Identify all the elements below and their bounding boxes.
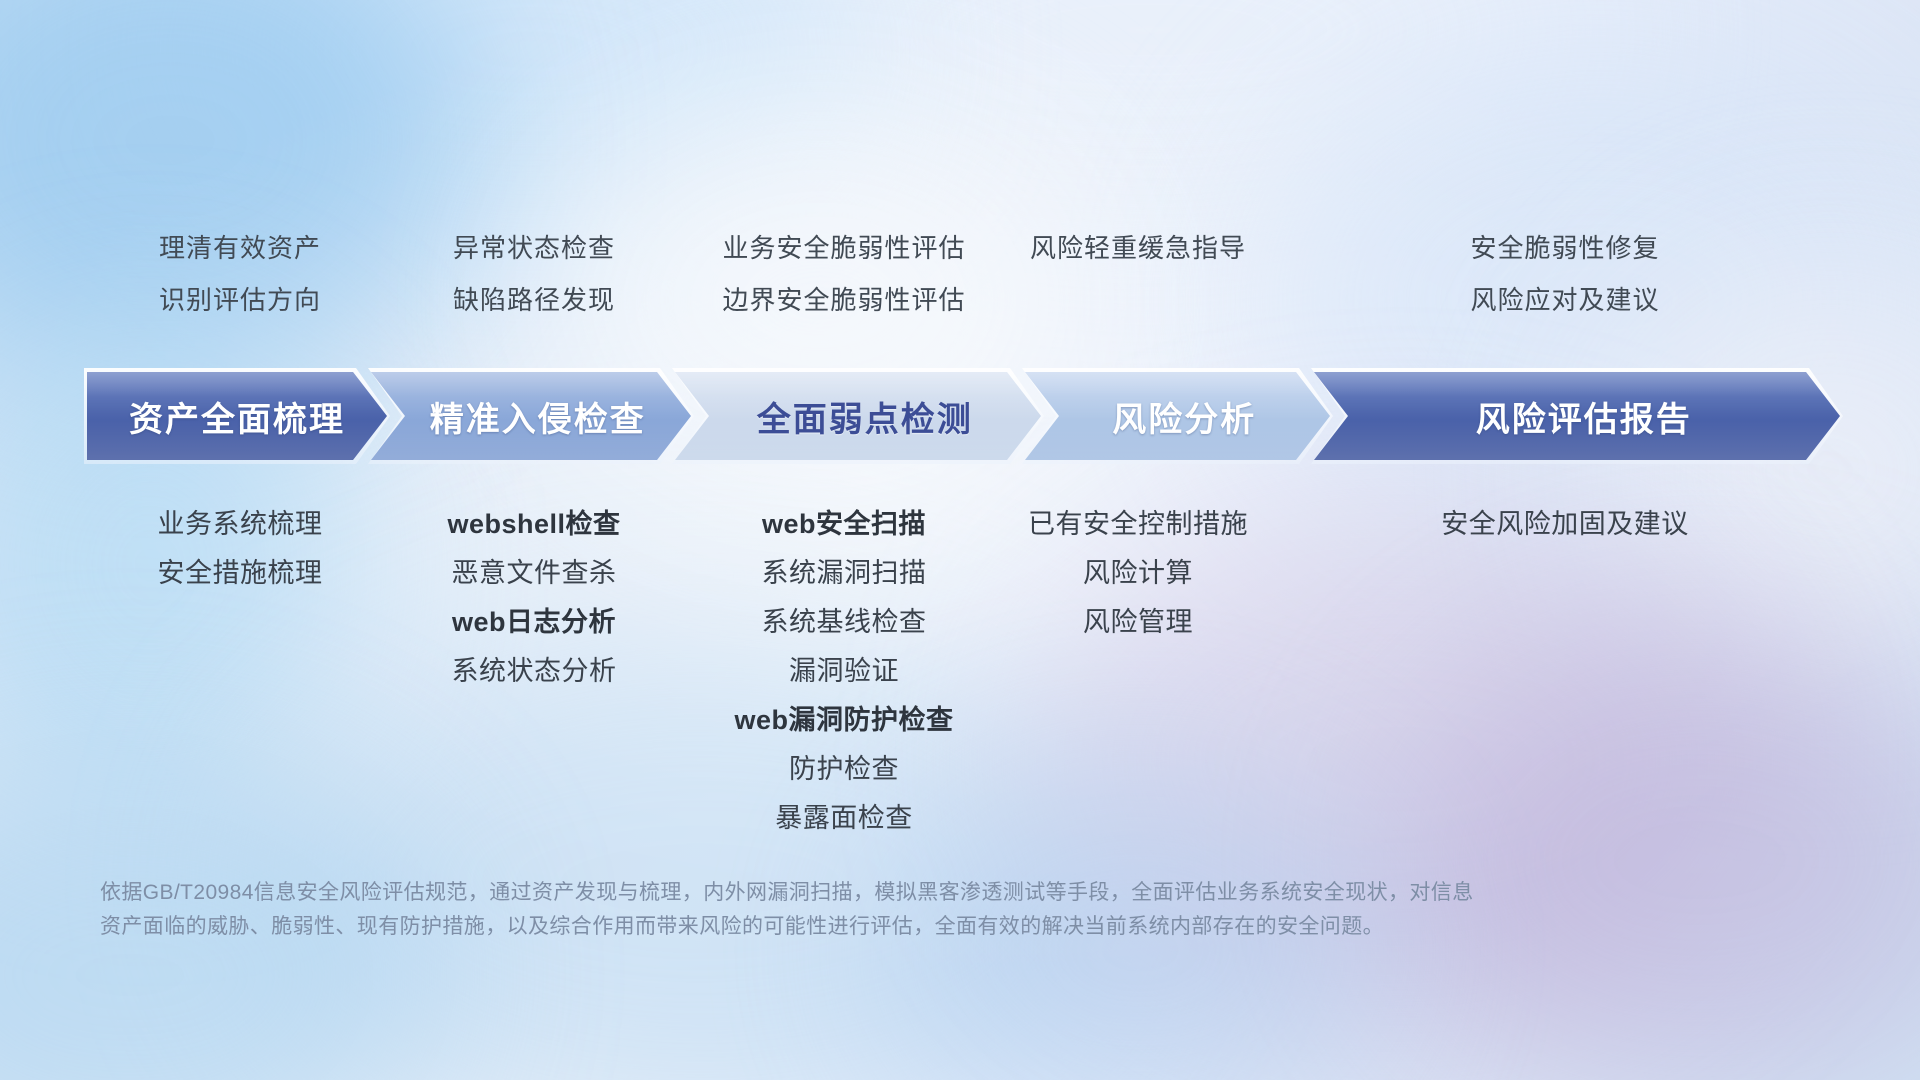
top-captions-intrusion-check: 异常状态检查缺陷路径发现	[368, 222, 700, 326]
bottom-captions-risk-analysis: 已有安全控制措施风险计算风险管理	[960, 500, 1316, 647]
bottom-caption-item: 系统基线检查	[762, 598, 927, 647]
footer-line-2: 资产面临的威胁、脆弱性、现有防护措施，以及综合作用而带来风险的可能性进行评估，全…	[100, 910, 1620, 944]
top-caption-item: 缺陷路径发现	[453, 274, 615, 326]
bottom-caption-item: web漏洞防护检查	[734, 696, 953, 745]
bottom-caption-item: 安全风险加固及建议	[1441, 500, 1689, 549]
top-caption-item: 理清有效资产	[159, 222, 321, 274]
footer-description: 依据GB/T20984信息安全风险评估规范，通过资产发现与梳理，内外网漏洞扫描，…	[100, 876, 1620, 944]
bottom-caption-item: web安全扫描	[762, 500, 926, 549]
top-caption-item: 异常状态检查	[453, 222, 615, 274]
bottom-caption-item: webshell检查	[447, 500, 620, 549]
process-step-assessment-report[interactable]: 风险评估报告	[1311, 368, 1843, 464]
bottom-caption-item: 已有安全控制措施	[1028, 500, 1248, 549]
top-caption-item: 安全脆弱性修复	[1470, 222, 1659, 274]
bottom-caption-item: 风险管理	[1083, 598, 1193, 647]
bottom-caption-item: 系统漏洞扫描	[762, 549, 927, 598]
top-caption-item: 识别评估方向	[159, 274, 321, 326]
process-step-weakness-detection[interactable]: 全面弱点检测	[672, 368, 1044, 464]
bottom-captions-assessment-report: 安全风险加固及建议	[1286, 500, 1844, 549]
top-caption-row: 理清有效资产识别评估方向异常状态检查缺陷路径发现业务安全脆弱性评估边界安全脆弱性…	[0, 222, 1920, 332]
top-captions-assessment-report: 安全脆弱性修复风险应对及建议	[1286, 222, 1844, 326]
bottom-caption-item: 恶意文件查杀	[452, 549, 617, 598]
process-diagram: 理清有效资产识别评估方向异常状态检查缺陷路径发现业务安全脆弱性评估边界安全脆弱性…	[0, 0, 1920, 1080]
bottom-caption-item: web日志分析	[452, 598, 616, 647]
bottom-caption-item: 暴露面检查	[775, 794, 913, 843]
process-step-asset-inventory[interactable]: 资产全面梳理	[84, 368, 390, 464]
bottom-caption-item: 系统状态分析	[452, 647, 617, 696]
bottom-captions-intrusion-check: webshell检查恶意文件查杀web日志分析系统状态分析	[368, 500, 700, 696]
bottom-caption-item: 业务系统梳理	[158, 500, 323, 549]
bottom-captions-asset-inventory: 业务系统梳理安全措施梳理	[84, 500, 396, 598]
footer-line-1: 依据GB/T20984信息安全风险评估规范，通过资产发现与梳理，内外网漏洞扫描，…	[100, 876, 1620, 910]
top-captions-asset-inventory: 理清有效资产识别评估方向	[84, 222, 396, 326]
process-step-label: 全面弱点检测	[757, 392, 973, 441]
process-arrow-band: 资产全面梳理精准入侵检查全面弱点检测风险分析风险评估报告	[84, 368, 1844, 464]
bottom-caption-item: 安全措施梳理	[158, 549, 323, 598]
process-step-risk-analysis[interactable]: 风险分析	[1022, 368, 1333, 464]
process-step-label: 资产全面梳理	[129, 392, 345, 441]
process-step-label: 风险评估报告	[1476, 392, 1692, 441]
process-step-label: 风险分析	[1112, 392, 1256, 441]
top-caption-item: 业务安全脆弱性评估	[722, 222, 965, 274]
top-caption-item: 风险应对及建议	[1470, 274, 1659, 326]
bottom-caption-item: 风险计算	[1083, 549, 1193, 598]
process-step-intrusion-check[interactable]: 精准入侵检查	[368, 368, 694, 464]
bottom-caption-item: 漏洞验证	[789, 647, 899, 696]
process-step-label: 精准入侵检查	[430, 392, 646, 441]
top-caption-item: 风险轻重缓急指导	[1030, 222, 1246, 274]
top-captions-risk-analysis: 风险轻重缓急指导	[960, 222, 1316, 274]
top-caption-item: 边界安全脆弱性评估	[722, 274, 965, 326]
bottom-caption-item: 防护检查	[789, 745, 899, 794]
